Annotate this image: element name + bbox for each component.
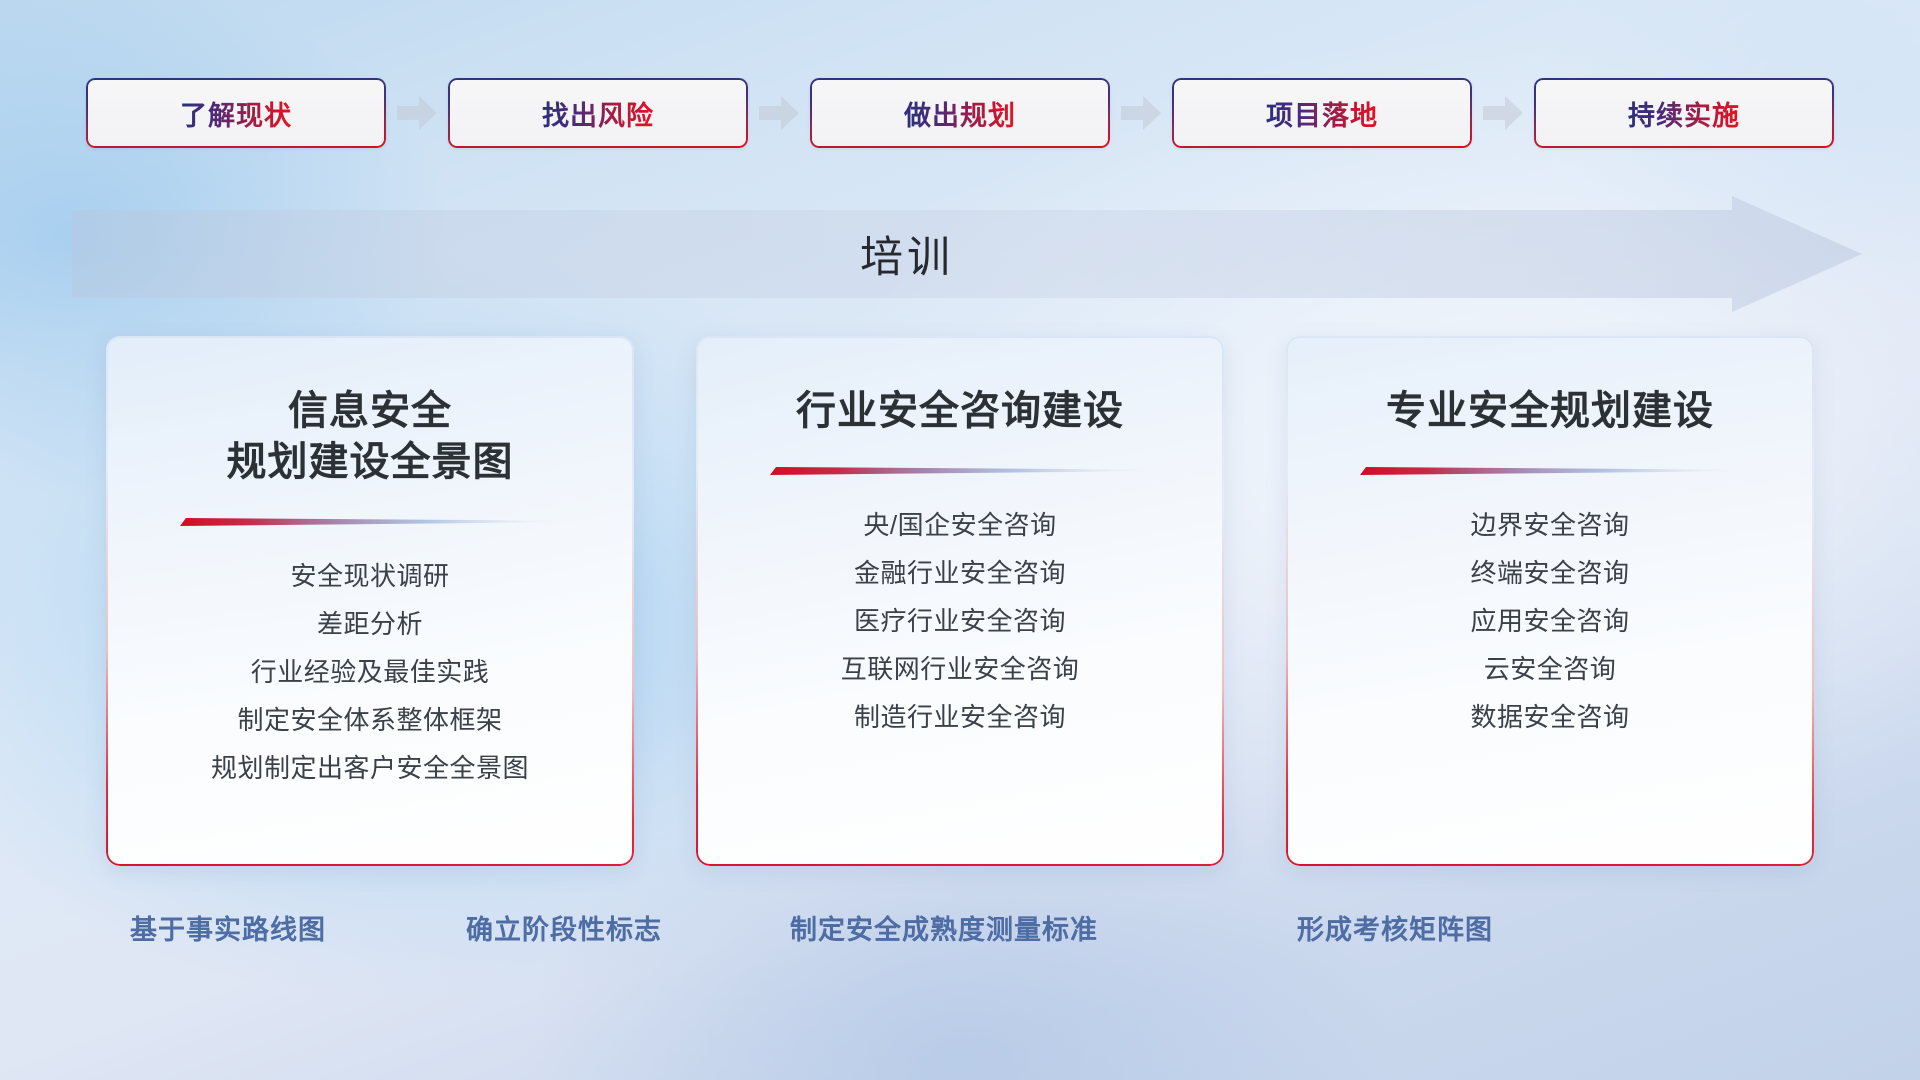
list-item: 制定安全体系整体框架 [237, 696, 502, 744]
chevron-right-arrow-icon [395, 93, 439, 133]
list-item: 金融行业安全咨询 [854, 549, 1066, 597]
service-card-1[interactable]: 信息安全 规划建设全景图安全现状调研差距分析行业经验及最佳实践制定安全体系整体框… [106, 336, 634, 866]
step-label-3: 做出规划 [904, 94, 1016, 133]
step-separator-arrow-4 [1472, 78, 1534, 148]
card-divider-1 [180, 514, 560, 524]
card-content: 信息安全 规划建设全景图安全现状调研差距分析行业经验及最佳实践制定安全体系整体框… [106, 336, 634, 866]
list-item: 数据安全咨询 [1470, 693, 1629, 741]
banner-title: 培训 [72, 196, 1862, 312]
list-item: 行业经验及最佳实践 [251, 648, 490, 696]
card-divider-2 [770, 463, 1150, 473]
step-separator-arrow-1 [386, 78, 448, 148]
list-item: 央/国企安全咨询 [863, 501, 1056, 549]
list-item: 终端安全咨询 [1470, 549, 1629, 597]
process-steps-row: 了解现状找出风险做出规划项目落地持续实施 [0, 76, 1920, 150]
list-item: 应用安全咨询 [1470, 597, 1629, 645]
step-label-5: 持续实施 [1628, 94, 1740, 133]
service-card-3[interactable]: 专业安全规划建设边界安全咨询终端安全咨询应用安全咨询云安全咨询数据安全咨询 [1286, 336, 1814, 866]
captions-row: 基于事实路线图确立阶段性标志制定安全成熟度测量标准形成考核矩阵图 [0, 908, 1920, 964]
service-card-2[interactable]: 行业安全咨询建设央/国企安全咨询金融行业安全咨询医疗行业安全咨询互联网行业安全咨… [696, 336, 1224, 866]
caption-2: 确立阶段性标志 [466, 908, 662, 947]
caption-3: 制定安全成熟度测量标准 [790, 908, 1098, 947]
list-item: 医疗行业安全咨询 [854, 597, 1066, 645]
chevron-right-arrow-icon [757, 93, 801, 133]
card-item-list: 安全现状调研差距分析行业经验及最佳实践制定安全体系整体框架规划制定出客户安全全景… [146, 552, 594, 792]
step-box-2[interactable]: 找出风险 [448, 78, 748, 148]
card-item-list: 边界安全咨询终端安全咨询应用安全咨询云安全咨询数据安全咨询 [1326, 501, 1774, 741]
list-item: 制造行业安全咨询 [854, 693, 1066, 741]
caption-1: 基于事实路线图 [130, 908, 326, 947]
step-box-4[interactable]: 项目落地 [1172, 78, 1472, 148]
card-title-1: 信息安全 规划建设全景图 [227, 386, 514, 488]
card-title-3: 专业安全规划建设 [1386, 386, 1714, 437]
list-item: 云安全咨询 [1484, 645, 1617, 693]
step-label-2: 找出风险 [542, 94, 654, 133]
caption-4: 形成考核矩阵图 [1297, 908, 1493, 947]
step-label-1: 了解现状 [180, 94, 292, 133]
step-box-1[interactable]: 了解现状 [86, 78, 386, 148]
card-content: 行业安全咨询建设央/国企安全咨询金融行业安全咨询医疗行业安全咨询互联网行业安全咨… [696, 336, 1224, 866]
card-divider-3 [1360, 463, 1740, 473]
list-item: 差距分析 [317, 600, 423, 648]
chevron-right-arrow-icon [1119, 93, 1163, 133]
step-box-5[interactable]: 持续实施 [1534, 78, 1834, 148]
list-item: 互联网行业安全咨询 [841, 645, 1080, 693]
step-box-3[interactable]: 做出规划 [810, 78, 1110, 148]
chevron-right-arrow-icon [1481, 93, 1525, 133]
list-item: 边界安全咨询 [1470, 501, 1629, 549]
step-label-4: 项目落地 [1266, 94, 1378, 133]
list-item: 规划制定出客户安全全景图 [211, 744, 529, 792]
list-item: 安全现状调研 [290, 552, 449, 600]
step-separator-arrow-3 [1110, 78, 1172, 148]
cards-row: 信息安全 规划建设全景图安全现状调研差距分析行业经验及最佳实践制定安全体系整体框… [0, 336, 1920, 866]
card-title-2: 行业安全咨询建设 [796, 386, 1124, 437]
card-content: 专业安全规划建设边界安全咨询终端安全咨询应用安全咨询云安全咨询数据安全咨询 [1286, 336, 1814, 866]
card-item-list: 央/国企安全咨询金融行业安全咨询医疗行业安全咨询互联网行业安全咨询制造行业安全咨… [736, 501, 1184, 741]
step-separator-arrow-2 [748, 78, 810, 148]
training-banner: 培训 [72, 196, 1862, 312]
